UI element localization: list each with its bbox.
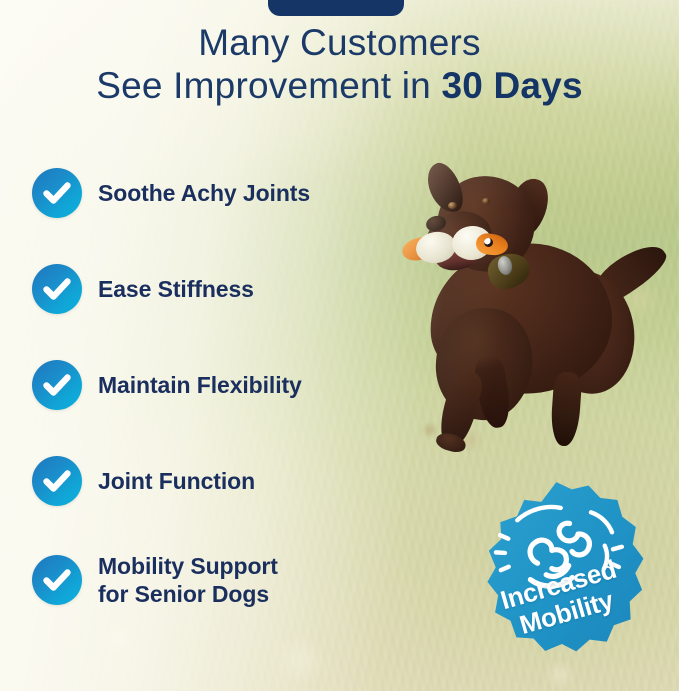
benefit-label: Joint Function [98,467,255,495]
check-icon [32,360,82,410]
list-item: Mobility Support for Senior Dogs [32,552,412,608]
list-item: Soothe Achy Joints [32,168,412,218]
check-icon [32,456,82,506]
check-icon [32,555,82,605]
check-icon [32,168,82,218]
list-item: Ease Stiffness [32,264,412,314]
page-title: Many Customers See Improvement in 30 Day… [0,22,679,107]
benefits-list: Soothe Achy Joints Ease Stiffness Mainta… [32,168,412,608]
benefit-label: Maintain Flexibility [98,371,302,399]
benefit-label: Mobility Support for Senior Dogs [98,552,278,608]
headline-line-2: See Improvement in 30 Days [0,65,679,106]
top-navy-tab [268,0,404,16]
benefit-label: Soothe Achy Joints [98,179,310,207]
headline-emphasis-30-days: 30 Days [441,65,582,106]
promo-poster: Many Customers See Improvement in 30 Day… [0,0,679,691]
check-icon [32,264,82,314]
list-item: Maintain Flexibility [32,360,412,410]
list-item: Joint Function [32,456,412,506]
headline-line-1: Many Customers [0,22,679,63]
benefit-label: Ease Stiffness [98,275,254,303]
headline-line-2-prefix: See Improvement in [96,65,441,106]
increased-mobility-badge: Increased Mobility [463,473,658,668]
